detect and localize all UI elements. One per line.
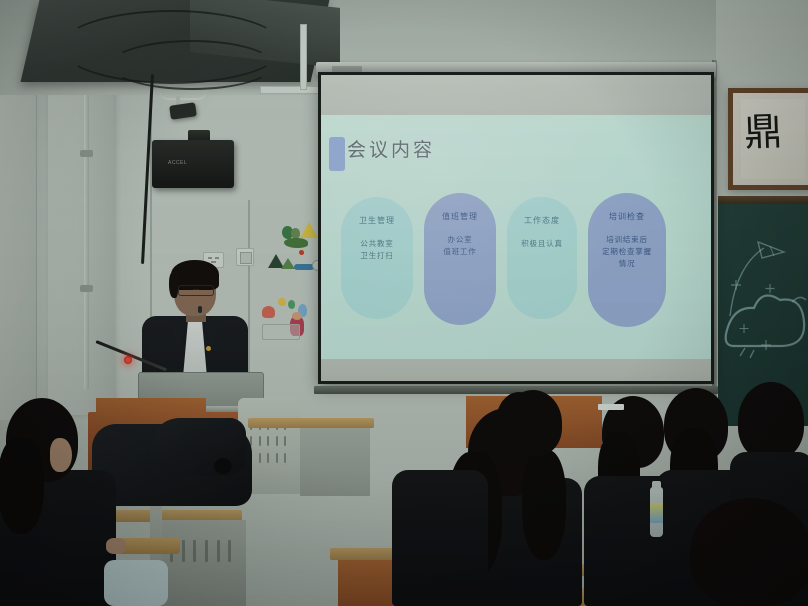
pill-line: 积极且认真 (521, 238, 563, 250)
projected-slide: 会议内容 卫生管理 公共教室 卫生打扫 值班管理 办公室 值班工作 (321, 115, 711, 359)
pill-heading: 值班管理 (442, 211, 478, 222)
wall-pillar (48, 55, 114, 415)
student-item-light-blue (104, 560, 168, 606)
student-head-foreground-right (690, 498, 808, 606)
pill-line: 值班工作 (443, 246, 476, 258)
student-torso-left-back (392, 470, 488, 606)
desk-top (248, 418, 374, 428)
wall-conduit (260, 86, 320, 94)
pill-heading: 培训检查 (609, 211, 645, 222)
pill-line: 卫生打扫 (360, 250, 393, 262)
water-bottle-label (650, 503, 663, 523)
calligraphy-character: 鼎 (740, 100, 786, 157)
pipe-clamp (80, 285, 93, 292)
glasses-icon (178, 285, 214, 296)
screen-band-top (321, 75, 711, 115)
slide-pill-attitude: 工作态度 积极且认真 (507, 197, 577, 319)
speaker-brand-label: ACCEL (168, 160, 187, 166)
pill-line: 定期检查掌握 (602, 246, 652, 258)
camera-mount (160, 92, 206, 100)
student-head-back-b (496, 392, 542, 452)
screen-frame: 会议内容 卫生管理 公共教室 卫生打扫 值班管理 办公室 值班工作 (318, 72, 714, 384)
slide-pill-training: 培训检查 培训结束后 定期检查掌握 情况 (588, 193, 666, 327)
calligraphy-paper: 鼎 (741, 99, 805, 179)
wall-speaker: ACCEL (152, 140, 234, 188)
slide-accent-bar (329, 137, 345, 171)
pill-heading: 工作态度 (524, 215, 560, 226)
pill-line: 情况 (619, 258, 636, 270)
wall-pipe (84, 60, 89, 390)
presenter-lapel-badge (206, 346, 211, 351)
wall-left-panel (0, 60, 37, 420)
slide-pill-hygiene: 卫生管理 公共教室 卫生打扫 (341, 197, 413, 319)
pill-line: 培训结束后 (606, 234, 648, 246)
presenter-hair-side (169, 272, 178, 298)
ceiling-cable (110, 40, 274, 90)
jacket-sleeve (214, 458, 232, 474)
pill-line: 公共教室 (360, 238, 393, 250)
slide-pill-duty: 值班管理 办公室 值班工作 (424, 193, 496, 325)
slide-pill-row: 卫生管理 公共教室 卫生打扫 值班管理 办公室 值班工作 工作态度 积极且认真 (341, 193, 697, 333)
calligraphy-frame: 鼎 (728, 88, 808, 190)
microphone-led-indicator (124, 356, 132, 364)
pipe-clamp (80, 150, 93, 157)
screen-surface: 会议内容 卫生管理 公共教室 卫生打扫 值班管理 办公室 值班工作 (321, 75, 711, 381)
presenter-mic-clip (198, 306, 202, 313)
water-bottle-cap (652, 481, 661, 489)
desk-front-panel (300, 428, 370, 496)
projection-screen: 会议内容 卫生管理 公共教室 卫生打扫 值班管理 办公室 值班工作 (316, 62, 716, 392)
pill-heading: 卫生管理 (359, 215, 395, 226)
pill-line: 办公室 (448, 234, 473, 246)
student-head-right-c (738, 382, 804, 460)
student-hair-left (0, 438, 44, 534)
slide-title: 会议内容 (347, 135, 435, 162)
classroom-photo: ACCEL 鼎 (0, 0, 808, 606)
wall-conduit (300, 24, 307, 90)
student-hair-center-right (522, 450, 566, 560)
desk-front-panel (162, 520, 246, 606)
student-hand-left (106, 538, 126, 554)
student-face-left (50, 438, 72, 472)
paper-on-desk (598, 404, 624, 410)
